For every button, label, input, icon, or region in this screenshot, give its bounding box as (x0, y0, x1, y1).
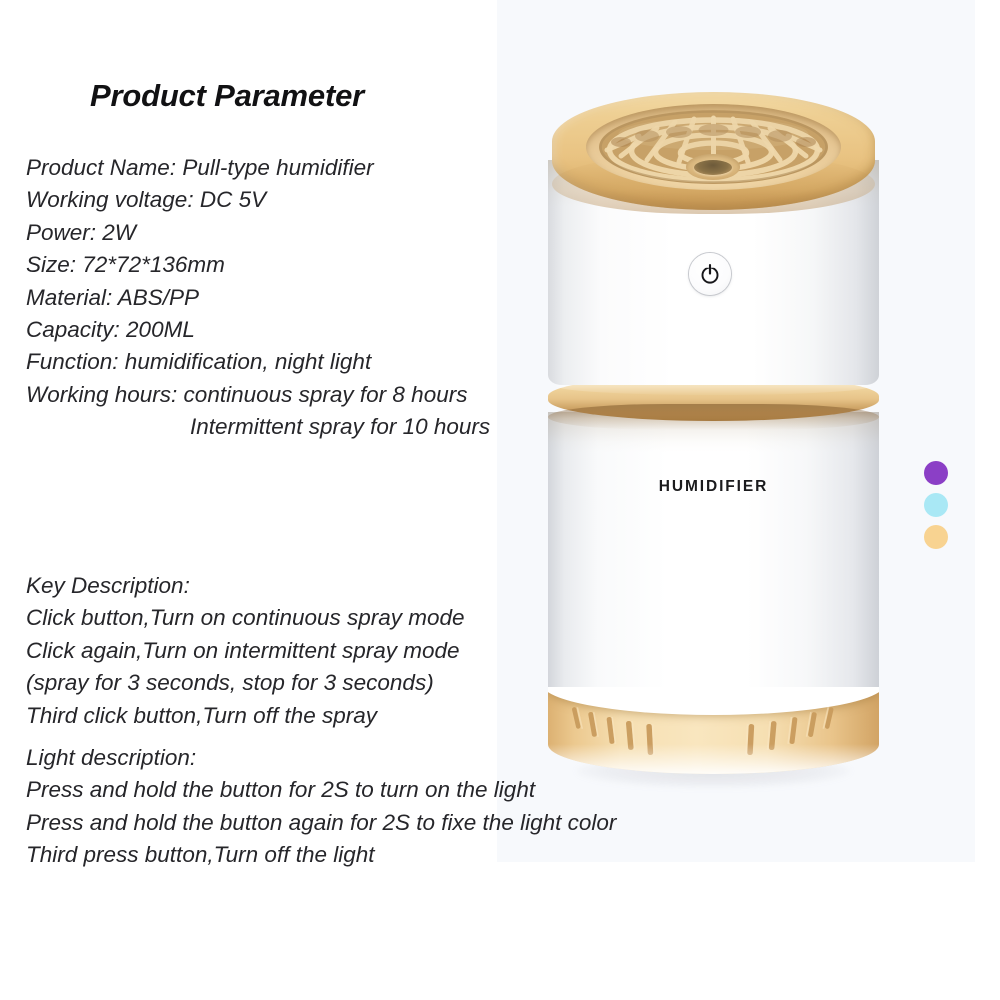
spec-line: Function: humidification, night light (26, 346, 496, 378)
light-description-line: Press and hold the button for 2S to turn… (26, 774, 566, 806)
spec-line: Material: ABS/PP (26, 282, 496, 314)
base-bottom-fade (548, 744, 879, 774)
light-description-heading: Light description: (26, 742, 566, 774)
gold-base (548, 687, 879, 774)
spec-line: Size: 72*72*136mm (26, 249, 496, 281)
brand-label: HUMIDIFIER (548, 478, 879, 496)
spec-line: Capacity: 200ML (26, 314, 496, 346)
spec-list: Product Name: Pull-type humidifier Worki… (26, 152, 496, 444)
power-button[interactable] (689, 253, 731, 295)
light-description-block: Light description: Press and hold the bu… (26, 742, 566, 872)
light-description-line: Press and hold the button again for 2S t… (26, 807, 566, 839)
cyan-light-swatch (924, 493, 948, 517)
key-description-heading: Key Description: (26, 570, 506, 602)
key-description-block: Key Description: Click button,Turn on co… (26, 570, 506, 732)
spec-line: Intermittent spray for 10 hours (26, 411, 496, 443)
key-description-line: (spray for 3 seconds, stop for 3 seconds… (26, 667, 506, 699)
mist-nozzle-icon (694, 160, 732, 175)
key-description-line: Third click button,Turn off the spray (26, 700, 506, 732)
page-title: Product Parameter (90, 78, 496, 114)
humidifier-product-image: HUMIDIFIER (548, 92, 879, 774)
light-description-line: Third press button,Turn off the light (26, 839, 566, 871)
spec-line: Product Name: Pull-type humidifier (26, 152, 496, 184)
spec-line: Power: 2W (26, 217, 496, 249)
power-icon (699, 263, 721, 285)
spec-line: Working hours: continuous spray for 8 ho… (26, 379, 496, 411)
water-tank-body: HUMIDIFIER (548, 412, 879, 702)
key-description-line: Click button,Turn on continuous spray mo… (26, 602, 506, 634)
key-description-line: Click again,Turn on intermittent spray m… (26, 635, 506, 667)
light-color-swatches (924, 461, 948, 549)
gold-mid-ring-shadow (548, 404, 879, 430)
specification-column: Product Parameter Product Name: Pull-typ… (26, 78, 496, 444)
spec-line: Working voltage: DC 5V (26, 184, 496, 216)
amber-light-swatch (924, 525, 948, 549)
purple-light-swatch (924, 461, 948, 485)
